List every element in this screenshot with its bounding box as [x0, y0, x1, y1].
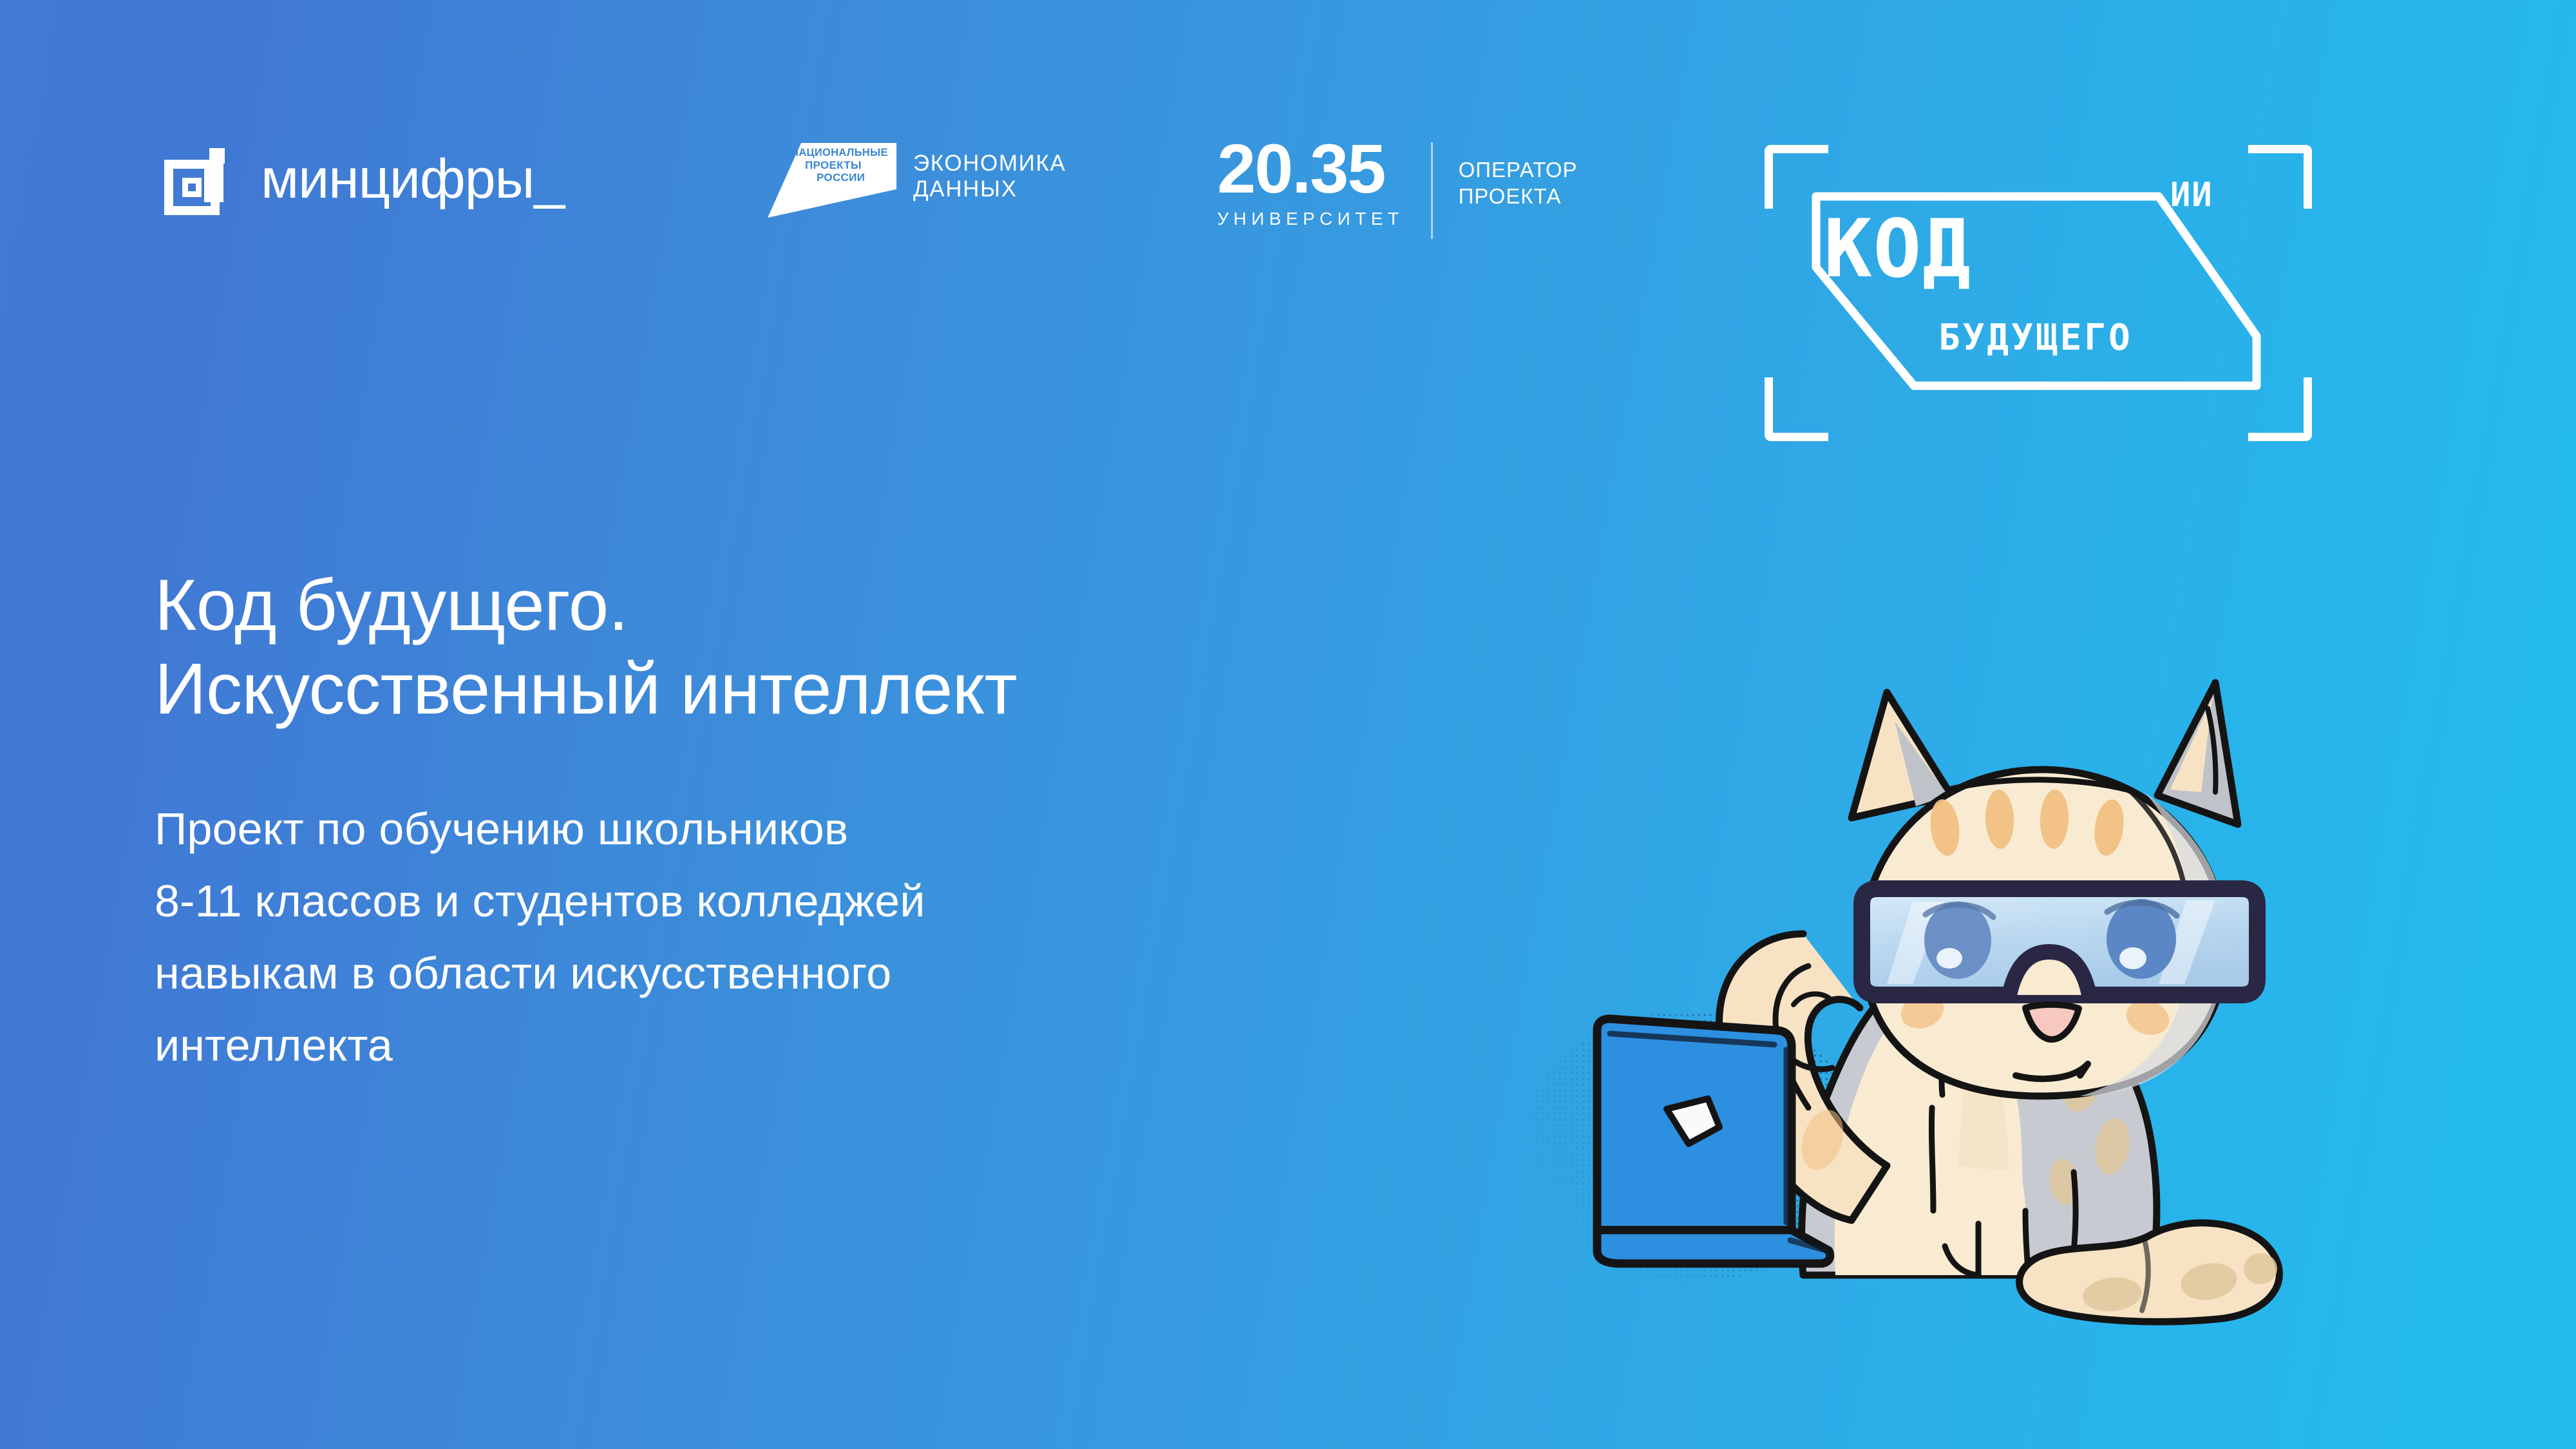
budushchego-word: БУДУЩЕГО	[1938, 320, 2133, 356]
ai-badge-label: ИИ	[2170, 178, 2213, 212]
vr-goggles	[1862, 889, 2257, 995]
page-description: Проект по обучению школьников 8-11 класс…	[155, 793, 1507, 1081]
kod-word: КОД	[1824, 209, 1972, 289]
logo-kod-budushchego: КОД БУДУЩЕГО ИИ	[1765, 145, 2331, 441]
university-2035-subtitle: УНИВЕРСИТЕТ	[1217, 209, 1404, 229]
cat-head	[1851, 683, 2257, 1096]
flag-line-1: НАЦИОНАЛЬНЫЕ	[791, 147, 893, 159]
mincifry-mark-icon	[164, 143, 239, 215]
laptop	[1597, 1019, 1830, 1264]
logo-national-projects: НАЦИОНАЛЬНЫЕ ПРОЕКТЫ РОССИИ ЭКОНОМИКА ДА…	[768, 143, 1066, 218]
university-2035-mark: 20.35 УНИВЕРСИТЕТ	[1217, 138, 1404, 229]
logo-university-2035: 20.35 УНИВЕРСИТЕТ ОПЕРАТОР ПРОЕКТА	[1217, 138, 1578, 239]
cat-front-paws	[1945, 1166, 2029, 1275]
mincifry-wordmark: минцифры_	[261, 151, 564, 207]
economy-of-data-line-1: ЭКОНОМИКА	[913, 151, 1066, 176]
university-2035-number: 20.35	[1217, 138, 1385, 199]
flag-line-2: ПРОЕКТЫ	[805, 159, 893, 171]
copy-block: Код будущего. Искусственный интеллект Пр…	[155, 515, 1507, 1126]
promo-banner: минцифры_ НАЦИОНАЛЬНЫЕ ПРОЕКТЫ РОССИИ ЭК…	[0, 0, 2576, 1449]
project-operator-caption: ОПЕРАТОР ПРОЕКТА	[1459, 138, 1578, 209]
flag-text: НАЦИОНАЛЬНЫЕ ПРОЕКТЫ РОССИИ	[791, 147, 893, 184]
project-operator-line-1: ОПЕРАТОР	[1459, 156, 1578, 183]
logo-divider	[1431, 142, 1433, 239]
cat-illustration	[1501, 631, 2415, 1340]
economy-of-data-line-2: ДАННЫХ	[913, 176, 1066, 202]
logo-mincifry: минцифры_	[164, 143, 564, 215]
flag-line-3: РОССИИ	[817, 171, 893, 184]
mincifry-center-dot	[188, 184, 196, 191]
page-title: Код будущего. Искусственный интеллект	[155, 563, 1507, 731]
economy-of-data-caption: ЭКОНОМИКА ДАННЫХ	[913, 143, 1066, 202]
mincifry-notch	[204, 162, 223, 202]
mincifry-corner-square	[209, 148, 225, 164]
project-operator-line-2: ПРОЕКТА	[1459, 183, 1578, 209]
logo-strip: минцифры_ НАЦИОНАЛЬНЫЕ ПРОЕКТЫ РОССИИ ЭК…	[0, 0, 2576, 361]
national-projects-flag-icon: НАЦИОНАЛЬНЫЕ ПРОЕКТЫ РОССИИ	[768, 143, 896, 218]
